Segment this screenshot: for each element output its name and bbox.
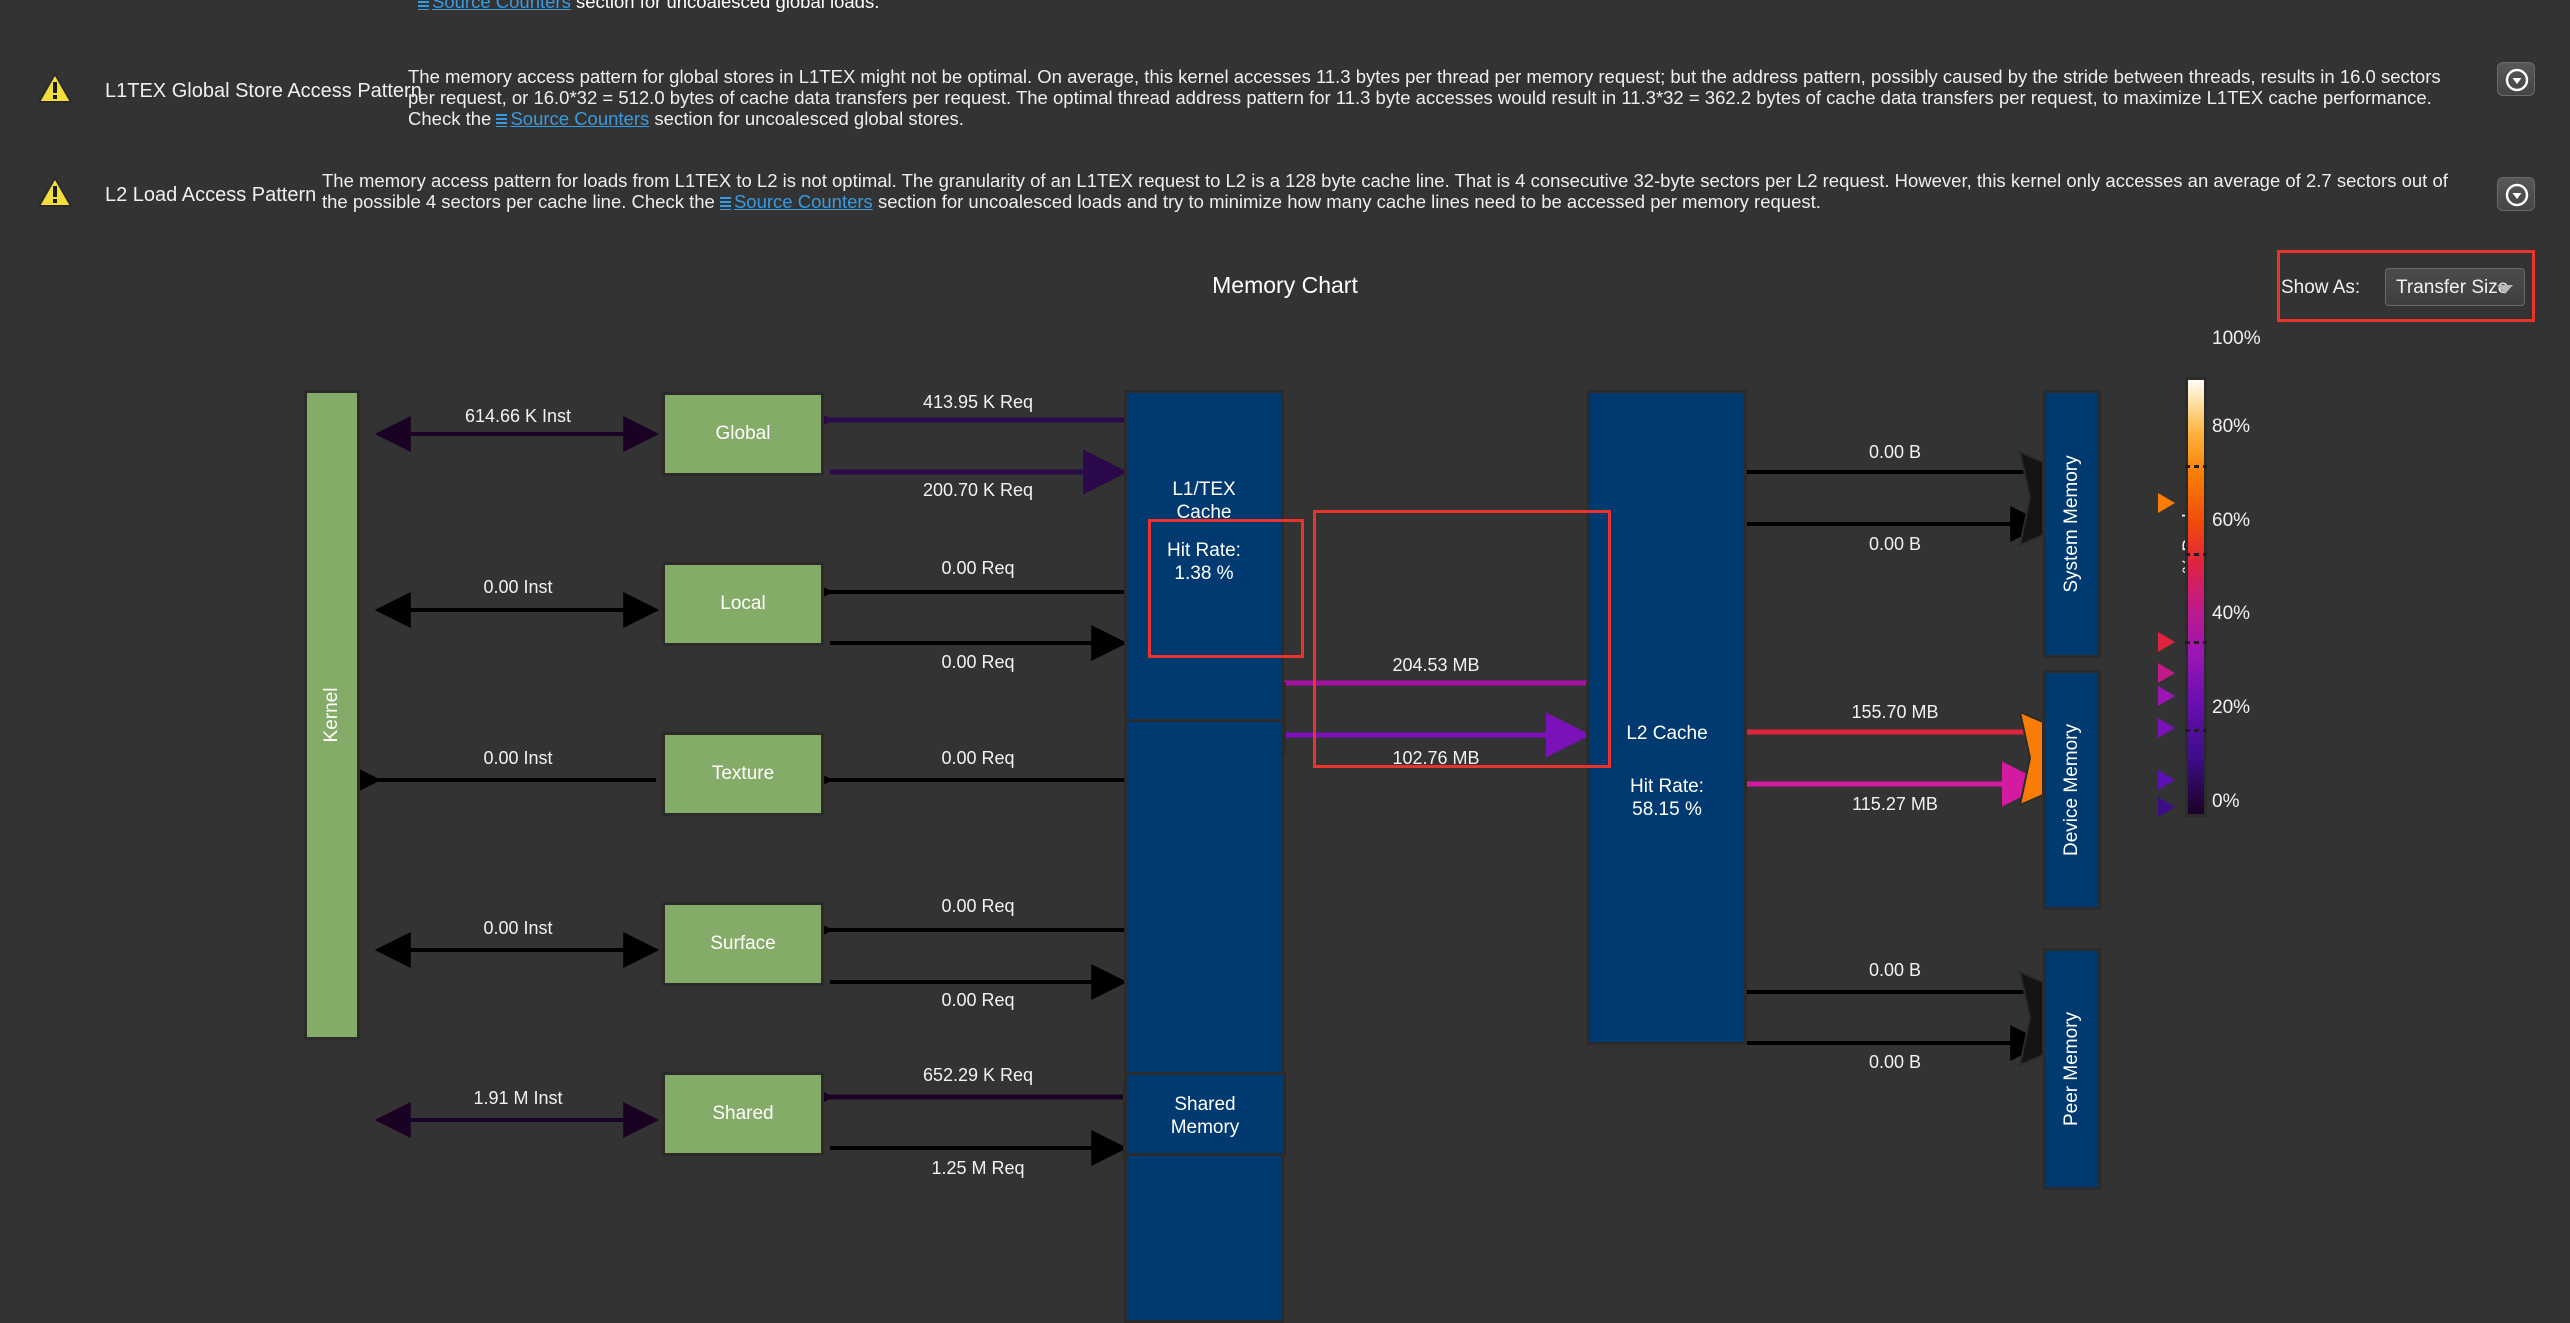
edge-label-global-l1tex: 200.70 K Req <box>878 480 1078 501</box>
rule-description-part2: section for uncoalesced loads and try to… <box>878 191 1821 212</box>
node-peer-memory-label: Peer Memory <box>2061 1012 2083 1126</box>
rule-expand-button[interactable] <box>2497 177 2535 211</box>
peak-colour-legend: % Peak 100% 80% 60% 40% 20% 0% <box>2160 330 2420 1230</box>
section-icon <box>418 0 429 10</box>
l2-hit-rate-label: Hit Rate: <box>1630 776 1704 797</box>
clipped-rule-suffix: section for uncoalesced global loads. <box>571 0 880 12</box>
chevron-down-circle-icon <box>2505 68 2529 92</box>
edge-label-l1tex-local: 0.00 Req <box>878 558 1078 579</box>
node-surface-label: Surface <box>665 933 821 955</box>
section-icon <box>496 114 507 127</box>
legend-marker-6 <box>2158 797 2175 817</box>
edge-label-devmem-l2: 155.70 MB <box>1795 702 1995 723</box>
node-device-memory[interactable]: Device Memory <box>2043 670 2101 910</box>
node-kernel[interactable]: Kernel <box>304 390 360 1040</box>
edge-label-sharedmem-shared: 652.29 K Req <box>878 1065 1078 1086</box>
edge-label-kernel-shared: 1.91 M Inst <box>418 1088 618 1109</box>
node-global[interactable]: Global <box>662 392 824 476</box>
rule-description: The memory access pattern for global sto… <box>408 66 2468 129</box>
l1tex-to-l2-highlight <box>1313 510 1611 768</box>
show-as-value: Transfer Size <box>2396 277 2508 299</box>
legend-dash-20 <box>2185 729 2207 732</box>
edge-label-peermem-l2: 0.00 B <box>1795 960 1995 981</box>
edge-label-sysmem-l2: 0.00 B <box>1795 442 1995 463</box>
show-as-dropdown[interactable]: Transfer Size <box>2385 268 2525 306</box>
legend-marker-5 <box>2158 770 2175 790</box>
legend-dash-40 <box>2185 641 2207 644</box>
legend-tick-20: 20% <box>2212 697 2250 719</box>
node-device-memory-label: Device Memory <box>2061 724 2083 856</box>
node-kernel-label: Kernel <box>321 688 343 743</box>
node-peer-memory[interactable]: Peer Memory <box>2043 948 2101 1190</box>
node-local[interactable]: Local <box>662 562 824 646</box>
legend-marker-2 <box>2158 663 2175 683</box>
node-shared-memory[interactable]: SharedMemory <box>1124 1072 1286 1156</box>
node-l2-cache[interactable]: L2 Cache Hit Rate: 58.15 % <box>1587 390 1747 1045</box>
node-texture-label: Texture <box>665 763 821 785</box>
legend-tick-0: 0% <box>2212 791 2239 813</box>
legend-tick-60: 60% <box>2212 510 2250 532</box>
node-l2-cache-label: L2 Cache <box>1590 723 1744 745</box>
rule-title: L2 Load Access Pattern <box>105 184 316 207</box>
node-shared[interactable]: Shared <box>662 1072 824 1156</box>
edge-label-l2-sysmem: 0.00 B <box>1795 534 1995 555</box>
edge-label-l1tex-global: 413.95 K Req <box>878 392 1078 413</box>
show-as-label: Show As: <box>2281 277 2360 299</box>
legend-marker-4 <box>2158 718 2175 738</box>
memory-chart: Kernel Global Local Texture Surface Shar… <box>0 330 2570 1262</box>
warning-icon <box>38 177 72 207</box>
legend-dash-60 <box>2185 553 2207 556</box>
edge-label-l1tex-texture: 0.00 Req <box>878 748 1078 769</box>
edge-label-l2-peermem: 0.00 B <box>1795 1052 1995 1073</box>
rule-description: The memory access pattern for loads from… <box>322 170 2468 212</box>
chevron-down-circle-icon <box>2505 183 2529 207</box>
edge-label-shared-sharedmem: 1.25 M Req <box>878 1158 1078 1179</box>
node-global-label: Global <box>665 423 821 445</box>
chevron-down-icon <box>2497 285 2513 294</box>
source-counters-link[interactable]: Source Counters <box>720 191 873 212</box>
l2-hit-rate: Hit Rate: 58.15 % <box>1590 775 1744 821</box>
edge-label-kernel-global: 614.66 K Inst <box>418 406 618 427</box>
node-shared-label: Shared <box>665 1103 821 1125</box>
page-title: Memory Chart <box>0 272 2570 299</box>
source-counters-link[interactable]: Source Counters <box>496 108 649 129</box>
legend-dash-80 <box>2185 465 2207 468</box>
l2-hit-rate-value: 58.15 % <box>1632 799 1702 820</box>
node-local-label: Local <box>665 593 821 615</box>
edge-label-kernel-local: 0.00 Inst <box>418 577 618 598</box>
l1tex-hit-rate-highlight <box>1148 519 1304 658</box>
legend-gradient-bar <box>2185 377 2207 817</box>
section-icon <box>720 197 731 210</box>
edge-label-local-l1tex: 0.00 Req <box>878 652 1078 673</box>
legend-tick-80: 80% <box>2212 416 2250 438</box>
legend-tick-40: 40% <box>2212 603 2250 625</box>
legend-tick-100: 100% <box>2212 328 2261 350</box>
edge-label-kernel-surface: 0.00 Inst <box>418 918 618 939</box>
source-counters-link[interactable]: Source Counters <box>418 0 571 12</box>
node-system-memory-label: System Memory <box>2061 455 2083 592</box>
node-surface[interactable]: Surface <box>662 902 824 986</box>
edge-label-surface-l1tex: 0.00 Req <box>878 990 1078 1011</box>
edge-label-l2-devmem: 115.27 MB <box>1795 794 1995 815</box>
clipped-rule-text: Source Counters section for uncoalesced … <box>0 0 2570 18</box>
rule-expand-button[interactable] <box>2497 62 2535 96</box>
rule-title: L1TEX Global Store Access Pattern <box>105 80 422 103</box>
edge-label-l1tex-surface: 0.00 Req <box>878 896 1078 917</box>
node-system-memory[interactable]: System Memory <box>2043 390 2101 658</box>
warning-icon <box>38 73 72 103</box>
node-shared-memory-label: SharedMemory <box>1127 1093 1283 1139</box>
edge-label-texture-kernel: 0.00 Inst <box>418 748 618 769</box>
legend-marker-3 <box>2158 686 2175 706</box>
rules-panel: Source Counters section for uncoalesced … <box>0 0 2570 232</box>
legend-marker-0 <box>2158 493 2175 513</box>
node-l1tex-cache-label: L1/TEXCache <box>1127 478 1281 524</box>
node-texture[interactable]: Texture <box>662 732 824 816</box>
rule-description-part2: section for uncoalesced global stores. <box>654 108 964 129</box>
legend-marker-1 <box>2158 632 2175 652</box>
